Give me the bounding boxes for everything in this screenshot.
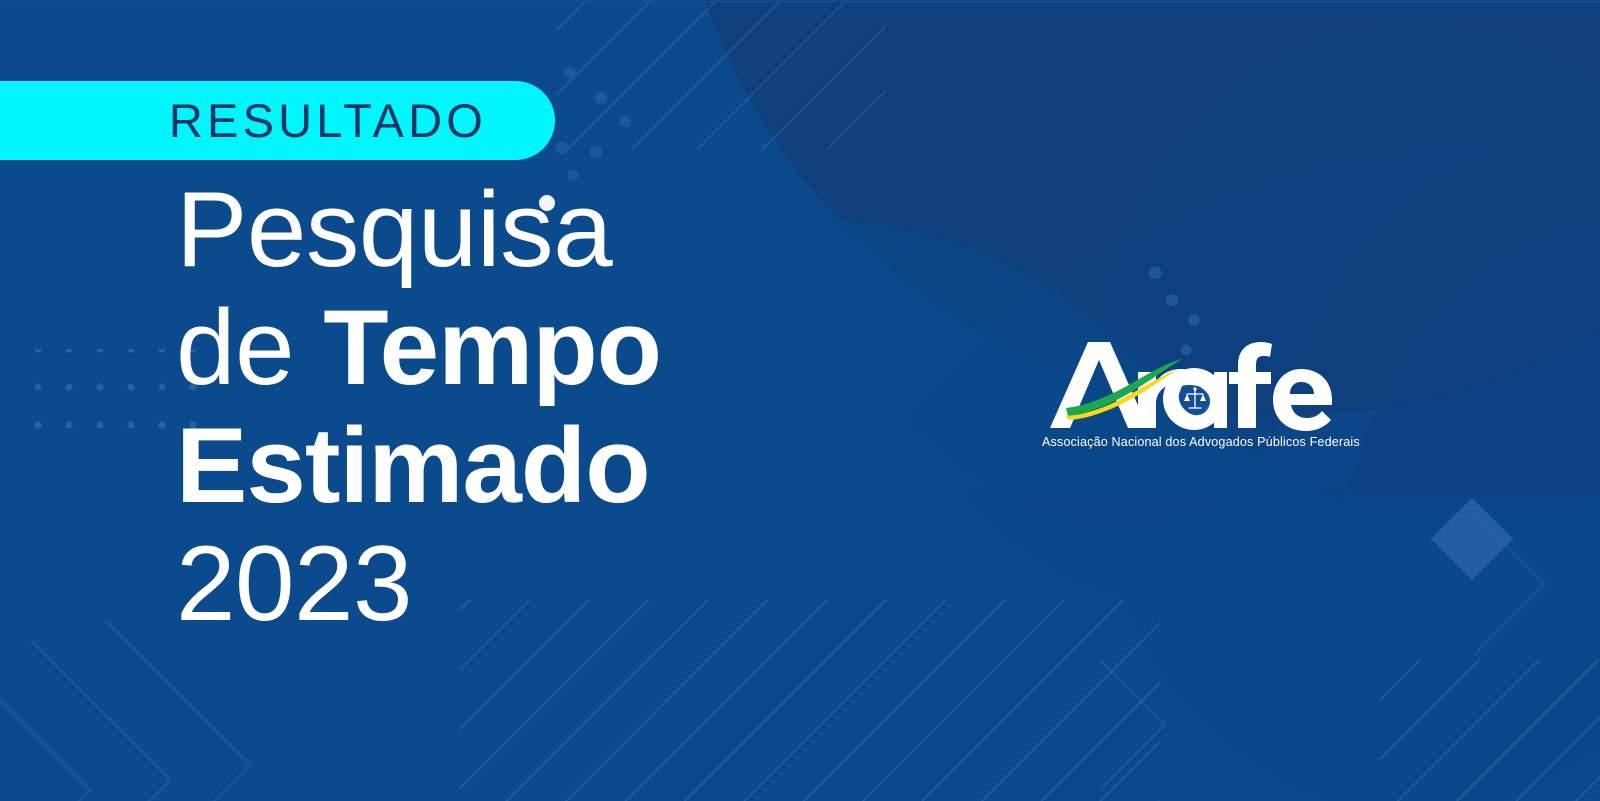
accent-diamond [1431,498,1513,580]
wave-blob-upper [905,120,1600,530]
letter-f [1229,342,1272,428]
anafe-wordmark-icon [1042,332,1332,432]
title-line-2: de Tempo [176,294,996,412]
resultado-badge: RESULTADO [0,81,555,160]
title-line-1: Pesquisa [176,176,996,294]
hatch-top-right [556,0,886,150]
title-line-4: 2023 [176,530,996,648]
slide-canvas: RESULTADO Pesquisa de Tempo Estimado 202… [0,0,1600,801]
letter-e [1273,369,1332,431]
chevron-right [1100,513,1545,790]
anafe-logo: Associação Nacional dos Advogados Públic… [1042,332,1342,449]
resultado-badge-label: RESULTADO [169,97,487,144]
title-line-2-light: de [176,287,323,407]
title-line-2-bold: Tempo [323,287,661,407]
title-line-3: Estimado [176,412,996,530]
anafe-tagline: Associação Nacional dos Advogados Públic… [1042,435,1332,449]
hatch-bottom-right [1380,660,1600,801]
page-title: Pesquisa de Tempo Estimado 2023 [176,176,996,648]
